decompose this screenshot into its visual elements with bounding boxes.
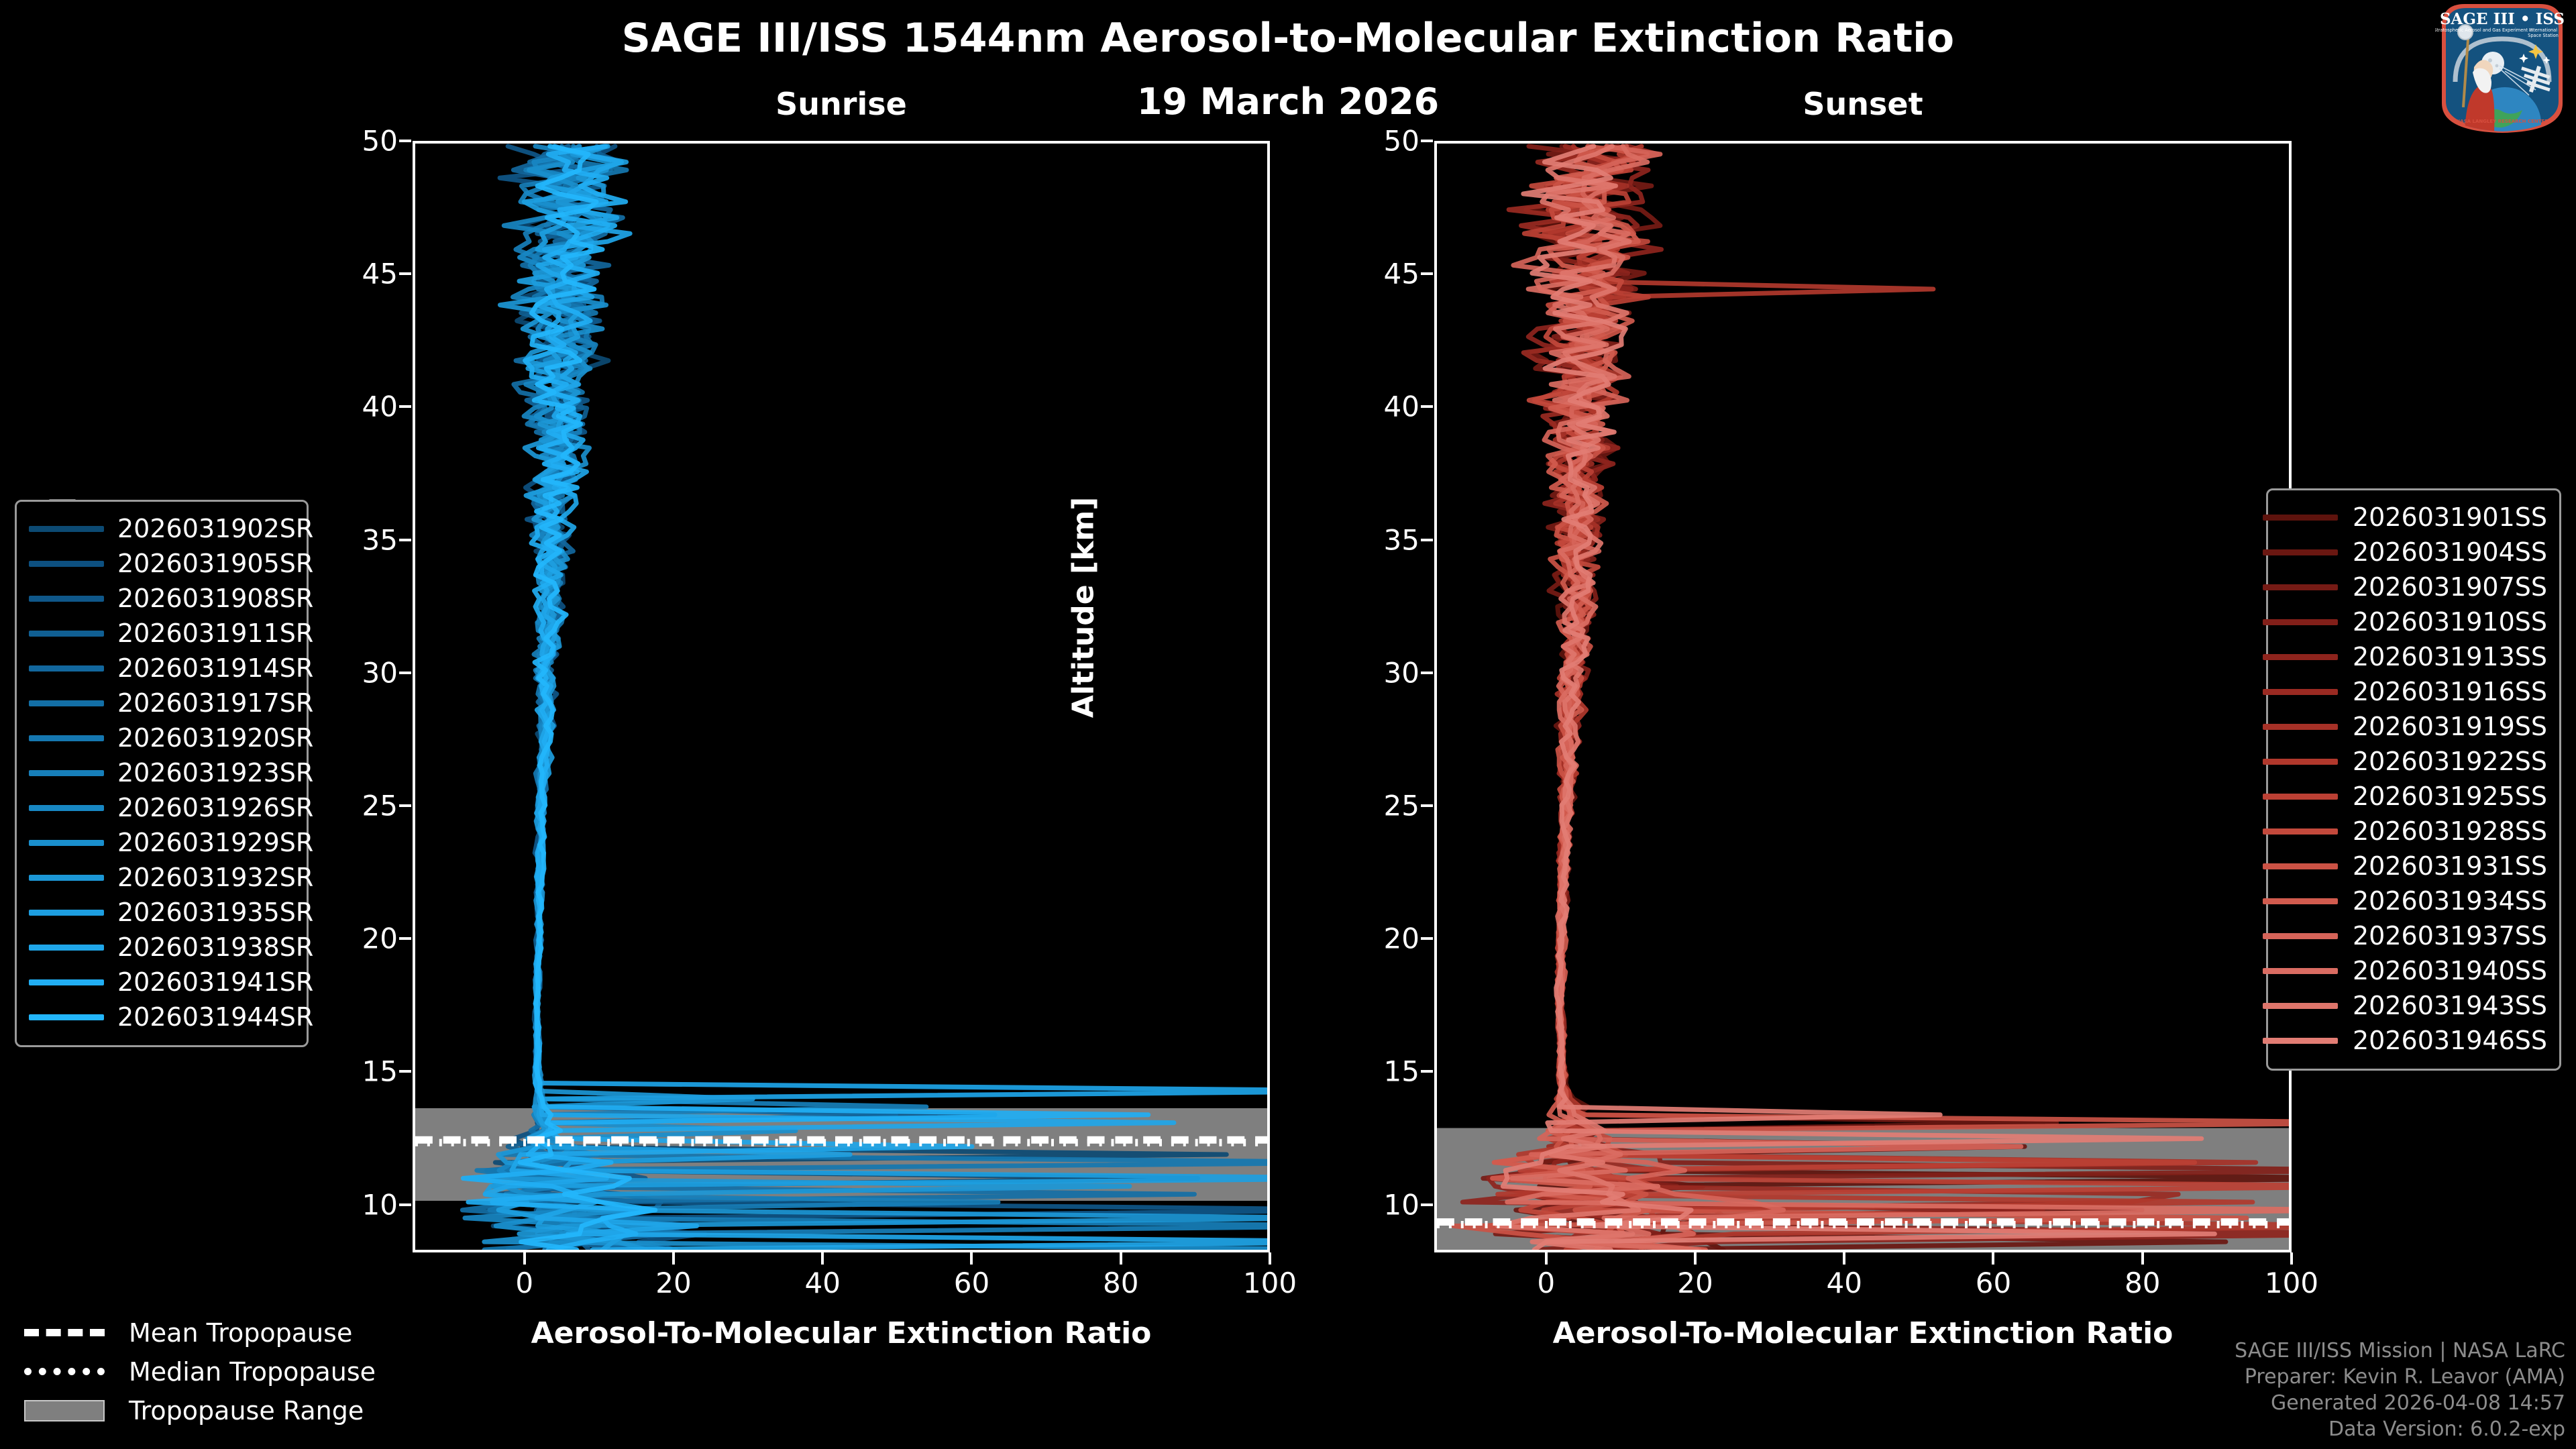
y-axis-label-sunset: Altitude [km] (1067, 474, 1101, 742)
y-tick-label-left-35: 35 (345, 523, 398, 556)
legend-color-swatch (2263, 794, 2338, 800)
x-tick-mark-left-40 (821, 1252, 824, 1265)
legend-item-2026031928SS[interactable]: 2026031928SS (2280, 814, 2547, 849)
legend-color-swatch (29, 561, 104, 567)
legend-item-2026031922SS[interactable]: 2026031922SS (2280, 744, 2547, 779)
legend-label: 2026031908SR (117, 584, 313, 613)
legend-label: 2026031902SR (117, 514, 313, 543)
y-tick-mark-left-15 (399, 1070, 411, 1073)
legend-item-2026031940SS[interactable]: 2026031940SS (2280, 953, 2547, 988)
legend-label: 2026031923SR (117, 758, 313, 788)
panel-title-sunrise: Sunrise (413, 86, 1270, 122)
legend-color-swatch (29, 840, 104, 846)
svg-text:NASA LANGLEY RESEARCH CENTER: NASA LANGLEY RESEARCH CENTER (2456, 119, 2548, 124)
legend-item-2026031946SS[interactable]: 2026031946SS (2280, 1023, 2547, 1058)
y-tick-mark-left-45 (399, 272, 411, 275)
legend-label: 2026031907SS (2353, 572, 2547, 602)
x-tick-label-right-100: 100 (2265, 1267, 2318, 1299)
legend-item-2026031908SR[interactable]: 2026031908SR (29, 581, 294, 616)
y-tick-label-right-15: 15 (1367, 1055, 1419, 1088)
legend-item-2026031907SS[interactable]: 2026031907SS (2280, 570, 2547, 604)
y-tick-label-right-25: 25 (1367, 790, 1419, 822)
y-tick-mark-right-50 (1421, 140, 1433, 142)
plot-sunset (1434, 141, 2292, 1252)
y-tick-mark-right-35 (1421, 539, 1433, 541)
legend-item-2026031904SS[interactable]: 2026031904SS (2280, 535, 2547, 570)
x-tick-label-right-60: 60 (1976, 1267, 2011, 1299)
y-tick-mark-right-15 (1421, 1070, 1433, 1073)
legend-color-swatch (29, 665, 104, 672)
x-tick-label-right-80: 80 (2125, 1267, 2160, 1299)
legend-item-2026031902SR[interactable]: 2026031902SR (29, 511, 294, 546)
legend-item-2026031920SR[interactable]: 2026031920SR (29, 720, 294, 755)
legend-color-swatch (2263, 1003, 2338, 1009)
sage-iii-iss-logo: SAGE III • ISS Stratospheric Aerosol and… (2435, 1, 2569, 133)
svg-text:International: International (2529, 28, 2557, 33)
legend-label: 2026031938SR (117, 932, 313, 962)
legend-label: 2026031925SS (2353, 782, 2547, 811)
y-tick-label-left-10: 10 (345, 1188, 398, 1221)
legend-label: 2026031926SR (117, 793, 313, 822)
legend-item-2026031917SR[interactable]: 2026031917SR (29, 686, 294, 720)
legend-label-median-tropopause: Median Tropopause (129, 1357, 376, 1387)
legend-label: 2026031916SS (2353, 677, 2547, 706)
x-tick-mark-right-100 (2290, 1252, 2293, 1265)
legend-label: 2026031914SR (117, 653, 313, 683)
legend-item-2026031919SS[interactable]: 2026031919SS (2280, 709, 2547, 744)
legend-label: 2026031934SS (2353, 886, 2547, 916)
legend-color-swatch (2263, 863, 2338, 869)
svg-text:SAGE III • ISS: SAGE III • ISS (2440, 10, 2565, 28)
y-tick-label-left-45: 45 (345, 258, 398, 290)
x-tick-mark-left-20 (672, 1252, 675, 1265)
y-tick-mark-left-30 (399, 672, 411, 674)
credits-block: SAGE III/ISS Mission | NASA LaRC Prepare… (2235, 1338, 2565, 1442)
legend-item-2026031913SS[interactable]: 2026031913SS (2280, 639, 2547, 674)
y-tick-label-right-40: 40 (1367, 390, 1419, 423)
legend-item-2026031923SR[interactable]: 2026031923SR (29, 755, 294, 790)
legend-label: 2026031928SS (2353, 816, 2547, 846)
legend-item-2026031934SS[interactable]: 2026031934SS (2280, 883, 2547, 918)
y-tick-label-right-20: 20 (1367, 922, 1419, 955)
x-tick-mark-left-80 (1120, 1252, 1122, 1265)
credit-preparer: Preparer: Kevin R. Leavor (AMA) (2235, 1364, 2565, 1390)
y-tick-mark-right-25 (1421, 804, 1433, 807)
legend-color-swatch (2263, 968, 2338, 974)
legend-item-2026031911SR[interactable]: 2026031911SR (29, 616, 294, 651)
y-tick-label-right-45: 45 (1367, 258, 1419, 290)
legend-item-2026031938SR[interactable]: 2026031938SR (29, 930, 294, 965)
credit-data-version: Data Version: 6.0.2-exp (2235, 1416, 2565, 1442)
legend-label: 2026031920SR (117, 723, 313, 753)
legend-item-2026031931SS[interactable]: 2026031931SS (2280, 849, 2547, 883)
mean-tropopause-line-icon (24, 1324, 114, 1342)
legend-item-2026031929SR[interactable]: 2026031929SR (29, 825, 294, 860)
legend-label: 2026031922SS (2353, 747, 2547, 776)
y-tick-mark-right-20 (1421, 937, 1433, 940)
legend-label: 2026031944SR (117, 1002, 313, 1032)
legend-label: 2026031935SR (117, 898, 313, 927)
y-tick-label-left-15: 15 (345, 1055, 398, 1088)
legend-label: 2026031904SS (2353, 537, 2547, 567)
x-tick-mark-right-0 (1545, 1252, 1548, 1265)
panel-title-sunset: Sunset (1434, 86, 2292, 122)
x-tick-mark-right-40 (1843, 1252, 1845, 1265)
legend-item-2026031944SR[interactable]: 2026031944SR (29, 1000, 294, 1034)
x-tick-label-left-40: 40 (804, 1267, 840, 1299)
x-tick-mark-right-20 (1694, 1252, 1697, 1265)
legend-color-swatch (29, 770, 104, 776)
y-tick-label-right-50: 50 (1367, 125, 1419, 158)
legend-item-2026031901SS[interactable]: 2026031901SS (2280, 500, 2547, 535)
x-tick-mark-left-60 (970, 1252, 973, 1265)
legend-color-swatch (29, 875, 104, 881)
legend-item-2026031943SS[interactable]: 2026031943SS (2280, 988, 2547, 1023)
y-tick-mark-right-40 (1421, 405, 1433, 408)
median-tropopause-line-icon (24, 1363, 114, 1381)
x-tick-label-left-20: 20 (655, 1267, 691, 1299)
legend-item-2026031932SR[interactable]: 2026031932SR (29, 860, 294, 895)
x-axis-label-sunset: Aerosol-To-Molecular Extinction Ratio (1434, 1316, 2292, 1350)
legend-label: 2026031931SS (2353, 851, 2547, 881)
legend-tropopause: Mean Tropopause Median Tropopause Tropop… (15, 1313, 417, 1430)
legend-label: 2026031929SR (117, 828, 313, 857)
svg-text:Stratospheric Aerosol and Gas: Stratospheric Aerosol and Gas Experiment… (2435, 28, 2533, 33)
y-tick-label-left-50: 50 (345, 125, 398, 158)
y-tick-label-left-30: 30 (345, 656, 398, 689)
legend-color-swatch (2263, 515, 2338, 521)
y-tick-label-right-30: 30 (1367, 656, 1419, 689)
plot-canvas-sunset (1437, 144, 2289, 1250)
legend-color-swatch (2263, 584, 2338, 590)
y-tick-mark-right-10 (1421, 1203, 1433, 1206)
x-tick-mark-left-100 (1269, 1252, 1271, 1265)
profile-line-2026031901SS (1526, 146, 2289, 1250)
legend-color-swatch (29, 979, 104, 985)
y-tick-label-left-20: 20 (345, 922, 398, 955)
legend-item-2026031935SR[interactable]: 2026031935SR (29, 895, 294, 930)
legend-item-median-tropopause: Median Tropopause (15, 1352, 417, 1391)
profile-line-2026031934SS (1493, 146, 1706, 1250)
legend-color-swatch (2263, 654, 2338, 660)
plot-canvas-sunrise (415, 144, 1267, 1250)
legend-label: 2026031937SS (2353, 921, 2547, 951)
y-tick-mark-left-40 (399, 405, 411, 408)
legend-color-swatch (2263, 898, 2338, 904)
legend-label: 2026031911SR (117, 619, 313, 648)
legend-label: 2026031919SS (2353, 712, 2547, 741)
plot-sunrise (413, 141, 1270, 1252)
legend-sunset[interactable]: 2026031901SS2026031904SS2026031907SS2026… (2266, 488, 2561, 1071)
legend-color-swatch (29, 805, 104, 811)
legend-color-swatch (29, 1014, 104, 1020)
svg-text:Space Station: Space Station (2528, 33, 2559, 38)
legend-label: 2026031943SS (2353, 991, 2547, 1020)
figure-root: SAGE III/ISS 1544nm Aerosol-to-Molecular… (0, 0, 2576, 1449)
y-tick-label-left-25: 25 (345, 790, 398, 822)
y-tick-label-left-40: 40 (345, 390, 398, 423)
legend-color-swatch (29, 735, 104, 741)
y-tick-mark-left-25 (399, 804, 411, 807)
legend-label-tropopause-range: Tropopause Range (129, 1396, 364, 1426)
legend-item-mean-tropopause: Mean Tropopause (15, 1313, 417, 1352)
legend-label-mean-tropopause: Mean Tropopause (129, 1318, 352, 1348)
x-tick-label-right-0: 0 (1537, 1267, 1555, 1299)
legend-label: 2026031901SS (2353, 502, 2547, 532)
legend-label: 2026031913SS (2353, 642, 2547, 672)
y-tick-mark-left-35 (399, 539, 411, 541)
legend-item-2026031905SR[interactable]: 2026031905SR (29, 546, 294, 581)
x-tick-label-left-80: 80 (1103, 1267, 1138, 1299)
x-tick-label-left-0: 0 (515, 1267, 533, 1299)
x-tick-label-left-100: 100 (1243, 1267, 1297, 1299)
legend-color-swatch (29, 945, 104, 951)
legend-color-swatch (2263, 619, 2338, 625)
legend-color-swatch (2263, 933, 2338, 939)
legend-color-swatch (2263, 1038, 2338, 1044)
legend-color-swatch (29, 631, 104, 637)
profile-line-2026031935SR (485, 146, 1267, 1250)
x-tick-label-left-60: 60 (954, 1267, 989, 1299)
profile-line-2026031910SS (1529, 146, 2289, 1250)
credit-generated: Generated 2026-04-08 14:57 (2235, 1390, 2565, 1416)
legend-item-2026031914SR[interactable]: 2026031914SR (29, 651, 294, 686)
legend-color-swatch (2263, 689, 2338, 695)
legend-color-swatch (29, 596, 104, 602)
x-tick-mark-right-60 (1992, 1252, 1994, 1265)
legend-label: 2026031917SR (117, 688, 313, 718)
y-tick-mark-left-20 (399, 937, 411, 940)
legend-color-swatch (2263, 724, 2338, 730)
y-tick-label-right-10: 10 (1367, 1188, 1419, 1221)
legend-item-2026031910SS[interactable]: 2026031910SS (2280, 604, 2547, 639)
legend-color-swatch (2263, 549, 2338, 555)
legend-item-2026031937SS[interactable]: 2026031937SS (2280, 918, 2547, 953)
legend-label: 2026031905SR (117, 549, 313, 578)
x-tick-label-right-20: 20 (1677, 1267, 1713, 1299)
y-tick-mark-right-45 (1421, 272, 1433, 275)
y-tick-mark-left-50 (399, 140, 411, 142)
legend-color-swatch (2263, 828, 2338, 835)
legend-color-swatch (29, 526, 104, 532)
legend-item-2026031926SR[interactable]: 2026031926SR (29, 790, 294, 825)
legend-color-swatch (2263, 759, 2338, 765)
legend-label: 2026031940SS (2353, 956, 2547, 985)
legend-color-swatch (29, 910, 104, 916)
legend-item-2026031916SS[interactable]: 2026031916SS (2280, 674, 2547, 709)
x-tick-mark-left-0 (523, 1252, 526, 1265)
legend-label: 2026031910SS (2353, 607, 2547, 637)
page-title: SAGE III/ISS 1544nm Aerosol-to-Molecular… (0, 15, 2576, 62)
tropopause-range-swatch-icon (24, 1402, 114, 1419)
legend-label: 2026031946SS (2353, 1026, 2547, 1055)
legend-item-2026031941SR[interactable]: 2026031941SR (29, 965, 294, 1000)
legend-item-tropopause-range: Tropopause Range (15, 1391, 417, 1430)
y-tick-label-right-35: 35 (1367, 523, 1419, 556)
credit-mission: SAGE III/ISS Mission | NASA LaRC (2235, 1338, 2565, 1364)
profile-line-2026031919SS (1524, 146, 2255, 1250)
legend-sunrise[interactable]: 2026031902SR2026031905SR2026031908SR2026… (15, 500, 309, 1047)
x-tick-mark-right-80 (2141, 1252, 2144, 1265)
legend-label: 2026031941SR (117, 967, 313, 997)
y-tick-mark-right-30 (1421, 672, 1433, 674)
legend-color-swatch (29, 700, 104, 706)
legend-item-2026031925SS[interactable]: 2026031925SS (2280, 779, 2547, 814)
legend-label: 2026031932SR (117, 863, 313, 892)
x-tick-label-right-40: 40 (1826, 1267, 1862, 1299)
x-axis-label-sunrise: Aerosol-To-Molecular Extinction Ratio (413, 1316, 1270, 1350)
y-tick-mark-left-10 (399, 1203, 411, 1206)
